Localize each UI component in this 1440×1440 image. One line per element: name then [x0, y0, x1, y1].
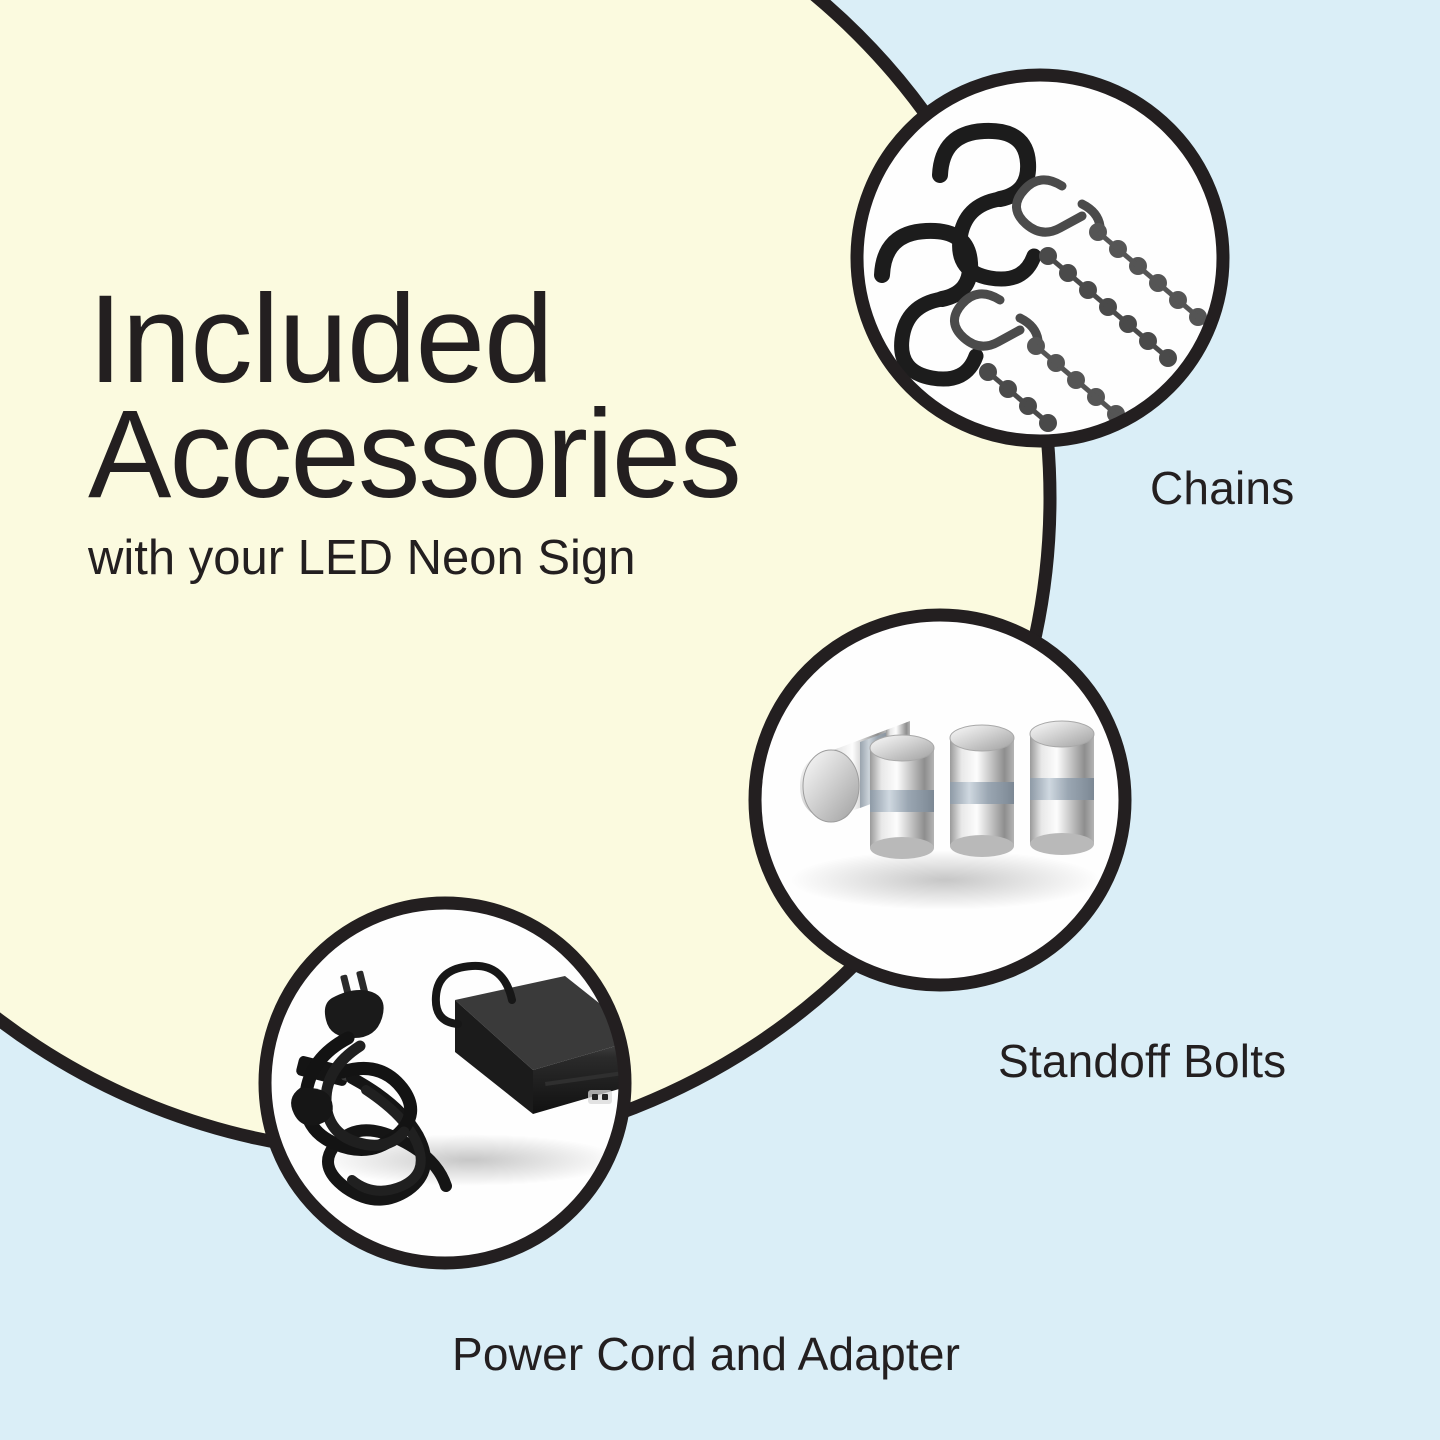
page-title-line-1: Included: [88, 282, 908, 397]
page-title-line-2: Accessories: [88, 397, 908, 512]
page-subtitle: with your LED Neon Sign: [88, 534, 908, 583]
callout-label-chains: Chains: [1150, 461, 1294, 515]
bolt-standing-2: [950, 725, 1014, 857]
heading-block: Included Accessories with your LED Neon …: [88, 282, 908, 583]
callout-standoff-bolts[interactable]: [755, 615, 1125, 985]
callout-label-standoff-bolts: Standoff Bolts: [998, 1034, 1286, 1088]
callout-label-power-cord: Power Cord and Adapter: [452, 1327, 960, 1381]
accessories-infographic: Included Accessories with your LED Neon …: [0, 0, 1440, 1440]
bolt-standing-3: [1030, 721, 1094, 855]
infographic-artwork: [0, 0, 1440, 1440]
bolt-standing-1: [870, 735, 934, 859]
callout-chains[interactable]: [855, 73, 1227, 445]
